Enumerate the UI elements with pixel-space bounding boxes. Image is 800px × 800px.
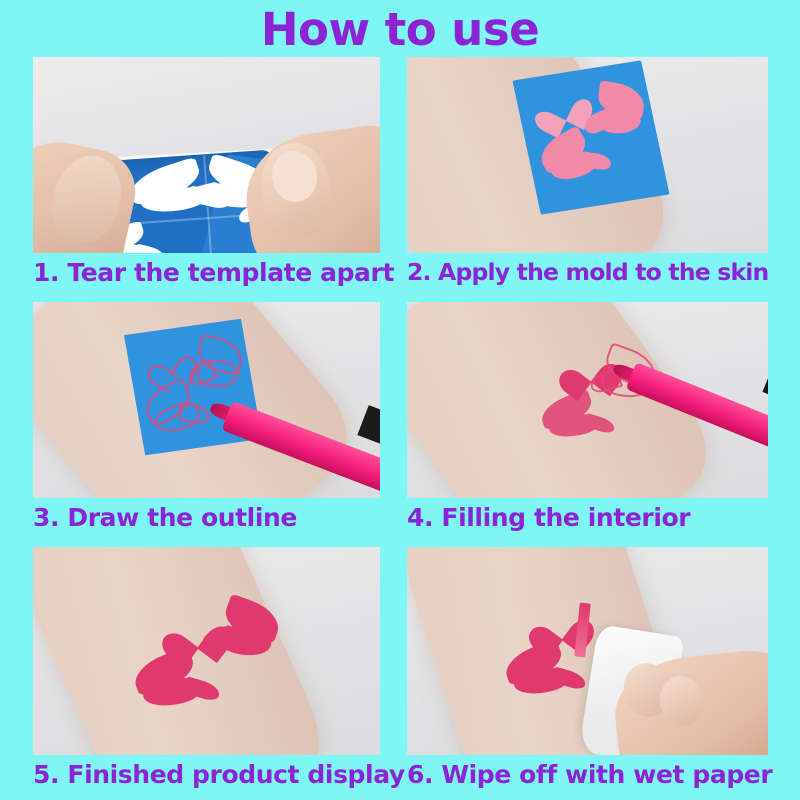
step-4-photo xyxy=(407,302,768,498)
step-6-photo xyxy=(407,547,768,755)
photo-tear-template xyxy=(33,57,380,253)
photo-draw-outline xyxy=(33,302,380,498)
step-3-photo xyxy=(33,302,380,498)
step-5-caption: 5. Finished product display xyxy=(33,760,405,789)
step-3-caption: 3. Draw the outline xyxy=(33,503,297,532)
step-1-caption: 1. Tear the template apart xyxy=(33,258,394,287)
photo-filling-interior xyxy=(407,302,768,498)
step-1-photo xyxy=(33,57,380,253)
step-2-photo xyxy=(407,57,768,253)
dove-cutout-icon xyxy=(581,79,656,150)
step-4-caption: 4. Filling the interior xyxy=(407,503,690,532)
step-6-caption: 6. Wipe off with wet paper xyxy=(407,760,772,789)
photo-wipe-off xyxy=(407,547,768,755)
step-2-caption: 2. Apply the mold to the skin xyxy=(407,258,768,286)
dove-tattoo-icon xyxy=(130,655,213,717)
dove-outline-icon xyxy=(187,333,251,398)
photo-apply-mold xyxy=(407,57,768,253)
dove-tattoo-icon xyxy=(207,601,283,668)
heart-cutout-icon xyxy=(538,87,587,132)
step-5-photo xyxy=(33,547,380,755)
photo-finished-product xyxy=(33,547,380,755)
steps-grid: 1. Tear the template apart 2. Apply the … xyxy=(0,55,800,800)
page-title: How to use xyxy=(0,2,800,58)
dove-tattoo-icon xyxy=(501,647,580,705)
heart-outline-icon xyxy=(149,344,190,383)
how-to-use-infographic: How to use xyxy=(0,0,800,800)
stencil-rectangle xyxy=(513,60,670,215)
